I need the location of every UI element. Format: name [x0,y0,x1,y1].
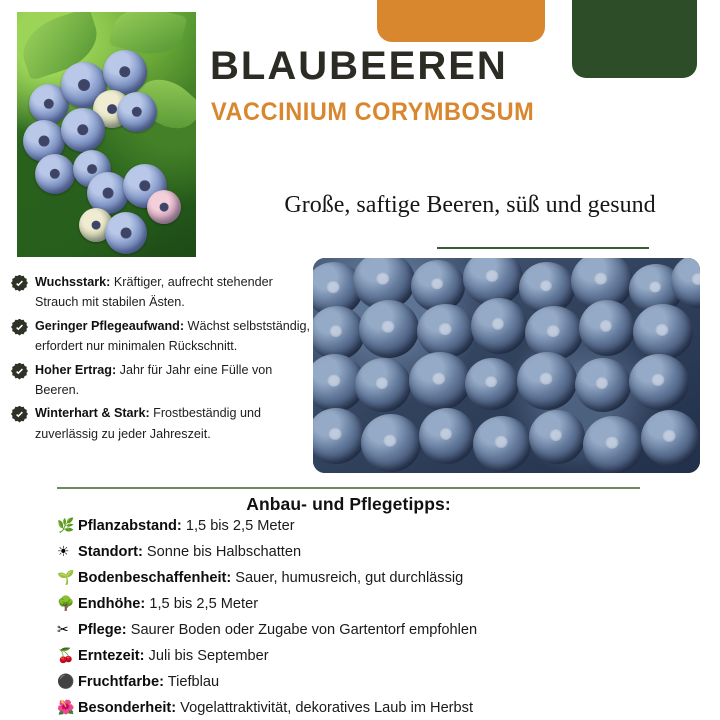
tip-value: Juli bis September [145,648,269,664]
tip-value: Tiefblau [164,674,219,690]
berry-shape [117,92,157,132]
feature-label: Geringer Pflegeaufwand: [35,319,184,333]
tip-text: Standort: Sonne bis Halbschatten [78,544,301,560]
tip-text: Endhöhe: 1,5 bis 2,5 Meter [78,596,258,612]
berry-shape [629,354,689,410]
tip-text: Bodenbeschaffenheit: Sauer, humusreich, … [78,570,463,586]
berry-shape [361,414,421,472]
berry-shape [473,416,531,472]
feature-text: Geringer Pflegeaufwand: Wächst selbststä… [35,316,317,357]
berry-shape [35,154,75,194]
check-badge-icon [11,275,28,292]
feature-label: Winterhart & Stark: [35,406,150,420]
berry-shape [419,408,475,464]
seedling-icon: 🌱 [57,570,78,584]
latin-name: VACCINIUM CORYMBOSUM [211,100,534,125]
check-badge-icon [11,363,28,380]
tip-value: Sonne bis Halbschatten [143,544,301,560]
list-item: ☀ Standort: Sonne bis Halbschatten [57,544,697,570]
tip-label: Standort: [78,544,143,560]
sun-icon: ☀ [57,544,78,558]
tip-value: 1,5 bis 2,5 Meter [182,518,295,534]
berry-shape [409,352,471,410]
feature-label: Wuchsstark: [35,275,110,289]
list-item: ✂ Pflege: Saurer Boden oder Zugabe von G… [57,622,697,648]
cherries-icon: 🍒 [57,648,78,662]
berry-closeup-photo [313,258,700,473]
berry-shape [471,298,527,354]
berry-shape [359,300,419,358]
tips-list: 🌿 Pflanzabstand: 1,5 bis 2,5 Meter ☀ Sta… [57,518,697,720]
berry-shape [517,352,577,410]
tip-label: Pflanzabstand: [78,518,182,534]
check-badge-icon [11,406,28,423]
decorative-orange-block [377,0,545,42]
feature-text: Winterhart & Stark: Frostbeständig und z… [35,403,317,444]
tips-heading: Anbau- und Pflegetipps: [57,494,640,515]
tip-label: Fruchtfarbe: [78,674,164,690]
tip-label: Bodenbeschaffenheit: [78,570,231,586]
list-item: Hoher Ertrag: Jahr für Jahr eine Fülle v… [11,360,317,401]
berry-shape [465,358,519,410]
berry-shape [633,304,693,360]
tip-label: Erntezeit: [78,648,145,664]
list-item: Winterhart & Stark: Frostbeständig und z… [11,403,317,444]
tip-value: Saurer Boden oder Zugabe von Gartentorf … [127,622,477,638]
page-title: BLAUBEEREN [210,46,508,86]
black-circle-icon: ⚫ [57,674,78,688]
list-item: Wuchsstark: Kräftiger, aufrecht stehende… [11,272,317,313]
list-item: 🍒 Erntezeit: Juli bis September [57,648,697,674]
tip-value: Vogelattraktivität, dekoratives Laub im … [176,700,473,716]
feature-list: Wuchsstark: Kräftiger, aufrecht stehende… [11,272,317,447]
decorative-green-block [572,0,697,78]
tips-divider [57,487,640,489]
tip-label: Pflege: [78,622,127,638]
tip-value: 1,5 bis 2,5 Meter [145,596,258,612]
feature-text: Hoher Ertrag: Jahr für Jahr eine Fülle v… [35,360,317,401]
list-item: 🌿 Pflanzabstand: 1,5 bis 2,5 Meter [57,518,697,544]
tip-label: Endhöhe: [78,596,145,612]
tip-label: Besonderheit: [78,700,176,716]
hibiscus-icon: 🌺 [57,700,78,714]
tip-value: Sauer, humusreich, gut durchlässig [231,570,463,586]
list-item: ⚫ Fruchtfarbe: Tiefblau [57,674,697,700]
tip-text: Fruchtfarbe: Tiefblau [78,674,219,690]
tagline-divider [437,247,649,249]
tree-icon: 🌳 [57,596,78,610]
check-badge-icon [11,319,28,336]
berry-shape [579,300,635,356]
tip-text: Besonderheit: Vogelattraktivität, dekora… [78,700,473,716]
scissors-icon: ✂ [57,622,78,636]
list-item: 🌺 Besonderheit: Vogelattraktivität, deko… [57,700,697,720]
berry-shape-pink [147,190,181,224]
feature-text: Wuchsstark: Kräftiger, aufrecht stehende… [35,272,317,313]
tagline: Große, saftige Beeren, süß und gesund [240,192,700,220]
tip-text: Pflege: Saurer Boden oder Zugabe von Gar… [78,622,477,638]
tip-text: Pflanzabstand: 1,5 bis 2,5 Meter [78,518,295,534]
tip-text: Erntezeit: Juli bis September [78,648,269,664]
list-item: 🌱 Bodenbeschaffenheit: Sauer, humusreich… [57,570,697,596]
list-item: Geringer Pflegeaufwand: Wächst selbststä… [11,316,317,357]
hero-bush-photo [17,12,196,257]
list-item: 🌳 Endhöhe: 1,5 bis 2,5 Meter [57,596,697,622]
berry-shape [417,304,475,358]
herb-icon: 🌿 [57,518,78,532]
berry-shape [61,108,105,152]
berry-shape [583,416,643,473]
berry-shape [105,212,147,254]
berry-shape [575,358,631,412]
berry-shape [529,410,585,464]
berry-shape [641,410,699,466]
blueberry-info-poster: BLAUBEEREN VACCINIUM CORYMBOSUM Große, s… [0,0,720,720]
feature-label: Hoher Ertrag: [35,363,116,377]
berry-shape [103,50,147,94]
berry-shape [355,358,411,412]
